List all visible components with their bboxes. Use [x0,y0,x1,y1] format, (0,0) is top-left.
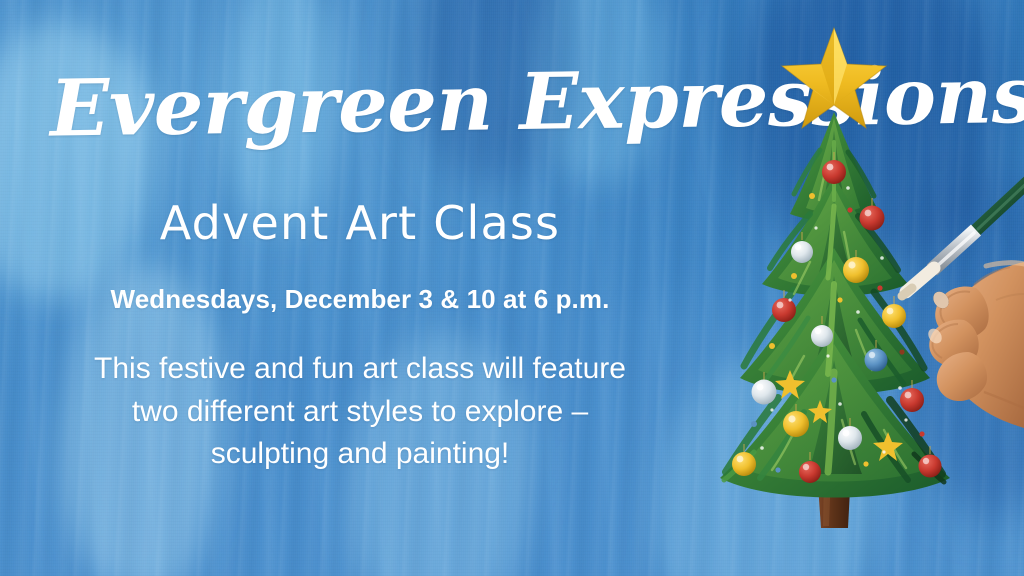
text-block: Evergreen Expressions Advent Art Class W… [0,0,720,576]
description-line: sculpting and painting! [40,433,680,476]
event-description: This festive and fun art class will feat… [40,348,680,476]
artwork-hand-painting-christmas-tree [644,0,1024,576]
page-title: Evergreen Expressions [49,61,710,148]
promotional-poster: Evergreen Expressions Advent Art Class W… [0,0,1024,576]
description-line: two different art styles to explore – [40,391,680,434]
description-line: This festive and fun art class will feat… [40,348,680,391]
page-subtitle: Advent Art Class [0,198,720,249]
hand-holding-paintbrush [925,262,1024,428]
event-dateline: Wednesdays, December 3 & 10 at 6 p.m. [0,284,720,315]
